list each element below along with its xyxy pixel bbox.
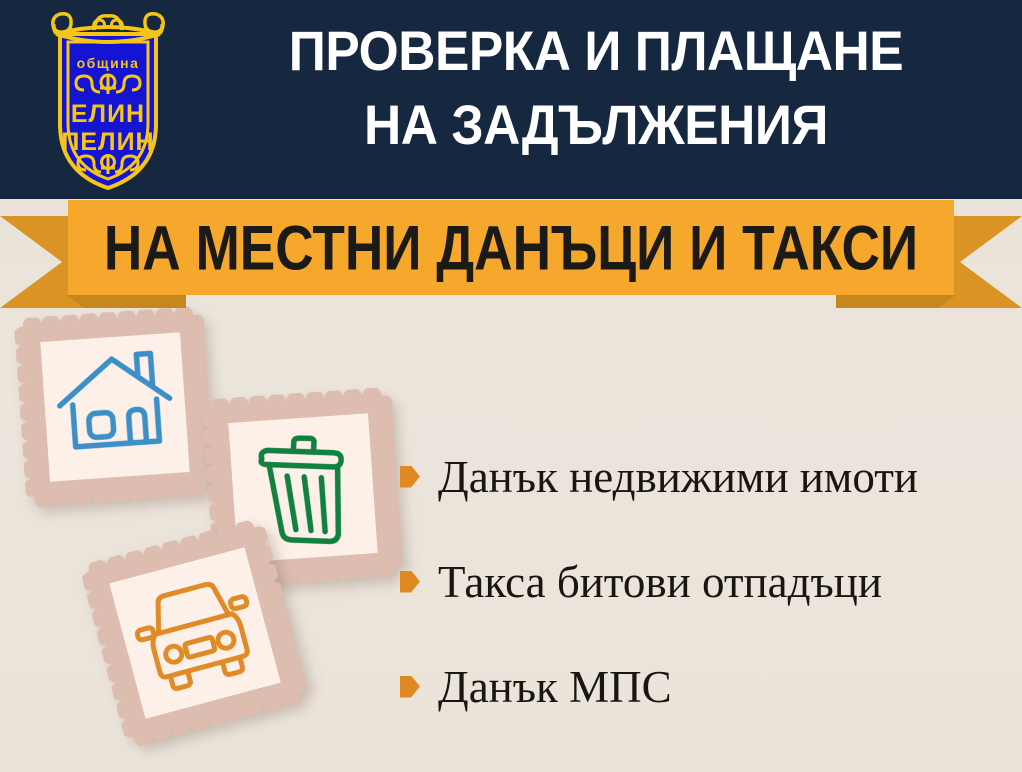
svg-text:ЕЛИН: ЕЛИН: [71, 100, 145, 128]
list-item[interactable]: Такса битови отпадъци: [400, 529, 1010, 634]
house-stamp: [14, 306, 217, 509]
svg-text:община: община: [77, 55, 140, 71]
list-item-label: Данък МПС: [438, 662, 672, 712]
list-item-label: Такса битови отпадъци: [438, 557, 882, 607]
coat-of-arms-crest: община ЕЛИН ПЕЛИН: [38, 6, 178, 192]
subtitle-ribbon: НА МЕСТНИ ДАНЪЦИ И ТАКСИ: [0, 196, 1022, 312]
tax-types-list: Данък недвижими имоти Такса битови отпад…: [400, 424, 1010, 739]
header-bar: община ЕЛИН ПЕЛИН: [0, 0, 1022, 199]
arrow-bullet-icon: [400, 466, 420, 488]
poster-canvas: община ЕЛИН ПЕЛИН: [0, 0, 1022, 772]
arrow-bullet-icon: [400, 571, 420, 593]
list-item[interactable]: Данък недвижими имоти: [400, 424, 1010, 529]
list-item-label: Данък недвижими имоти: [438, 452, 918, 502]
page-title: ПРОВЕРКА И ПЛАЩАНЕ НА ЗАДЪЛЖЕНИЯ: [219, 14, 973, 162]
ribbon-label: НА МЕСТНИ ДАНЪЦИ И ТАКСИ: [90, 194, 932, 300]
list-item[interactable]: Данък МПС: [400, 634, 1010, 739]
arrow-bullet-icon: [400, 676, 420, 698]
svg-text:ПЕЛИН: ПЕЛИН: [61, 128, 154, 156]
